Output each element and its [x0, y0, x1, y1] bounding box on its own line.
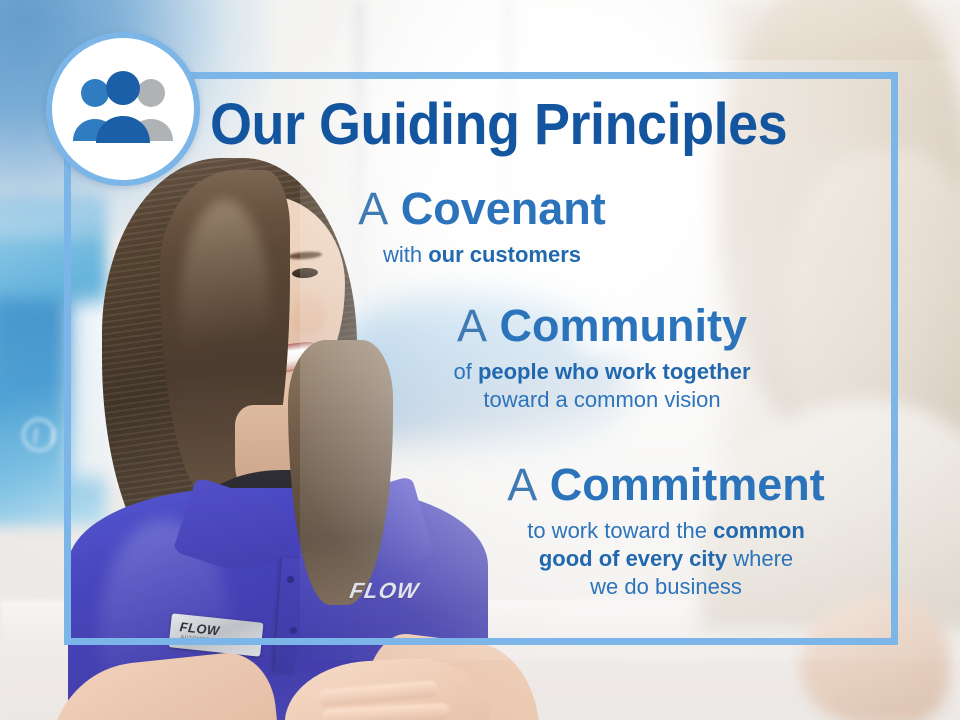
- principle-article: A: [507, 459, 537, 510]
- principle-subtext-line: good of every city where: [448, 545, 884, 573]
- principle-article: A: [457, 300, 487, 351]
- principle-subtext: with our customers: [300, 241, 664, 269]
- principle-heading: A Community: [390, 303, 814, 349]
- principle-subtext-line: of people who work together: [390, 358, 814, 386]
- principle-covenant: A Covenant with our customers: [300, 186, 664, 269]
- principle-word: Commitment: [550, 459, 825, 510]
- page-title: Our Guiding Principles: [210, 96, 842, 154]
- principle-heading: A Covenant: [300, 186, 664, 232]
- principle-subtext-line: with our customers: [300, 241, 664, 269]
- principle-word: Community: [500, 300, 748, 351]
- principle-heading: A Commitment: [448, 462, 884, 508]
- principle-word: Covenant: [401, 183, 606, 234]
- principle-subtext-line: to work toward the common: [448, 517, 884, 545]
- principle-subtext: to work toward the commongood of every c…: [448, 517, 884, 601]
- principle-community: A Community of people who work togethert…: [390, 303, 814, 414]
- principle-subtext-line: toward a common vision: [390, 386, 814, 414]
- principle-subtext-line: we do business: [448, 573, 884, 601]
- principle-article: A: [358, 183, 388, 234]
- principle-commitment: A Commitment to work toward the commongo…: [448, 462, 884, 601]
- principle-subtext: of people who work togethertoward a comm…: [390, 358, 814, 414]
- people-group-badge: [46, 32, 200, 186]
- graphic-overlay: Our Guiding Principles A Covenant with o…: [0, 0, 960, 720]
